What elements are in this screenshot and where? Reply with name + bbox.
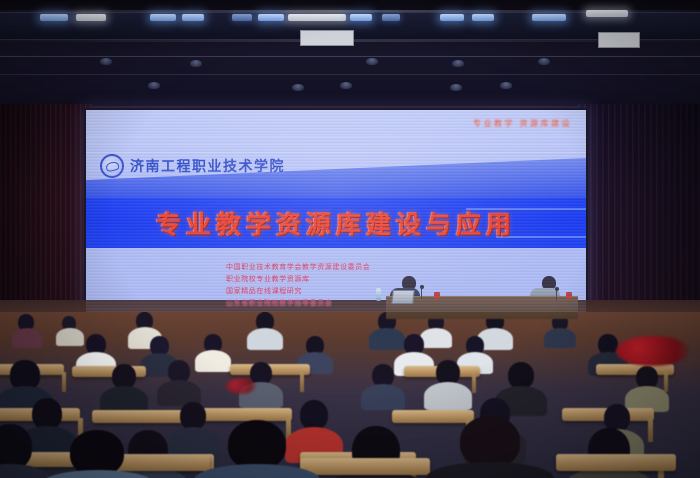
ceiling-lamp — [232, 14, 252, 21]
spotlight — [538, 58, 550, 65]
slide-subtitle-line: 国家精品在线课程研究 — [226, 286, 370, 296]
ceiling-lamp — [472, 14, 494, 21]
person-shoulders — [544, 328, 576, 348]
ceiling — [0, 0, 700, 118]
water-bottle — [376, 288, 381, 301]
college-name-text: 济南工程职业技术学院 — [130, 156, 285, 176]
person-shoulders — [56, 328, 84, 346]
person-shoulders — [195, 350, 231, 372]
person-shoulders — [424, 382, 472, 410]
red-cup — [434, 292, 440, 299]
slide-header-line — [86, 152, 586, 153]
ceiling-lamp — [532, 14, 566, 21]
spotlight — [100, 58, 112, 65]
person-head — [508, 362, 534, 389]
ceiling-lamp — [288, 14, 346, 21]
chair-back — [92, 410, 184, 423]
ceiling-projector-box — [300, 30, 354, 46]
spotlight — [450, 84, 462, 91]
red-cup — [566, 292, 572, 299]
microphone — [556, 290, 557, 301]
ceiling-rail — [0, 56, 700, 57]
ceiling-lamp — [350, 14, 372, 21]
slide-subtitle-line: 职业院校专业教学资源库 — [226, 274, 370, 284]
chair-back — [392, 410, 474, 423]
person-shoulders — [247, 328, 283, 350]
person-shoulders — [420, 328, 452, 348]
projection-screen: 专业教学 资源库建设 济南工程职业技术学院 专业教学资源库建设与应用 中国职业技… — [86, 110, 586, 312]
college-emblem-icon — [100, 154, 124, 178]
spotlight — [452, 60, 464, 67]
person-shoulders — [369, 328, 405, 350]
ceiling-lamp — [150, 14, 176, 21]
person-shoulders — [426, 462, 554, 478]
slide-header-line — [86, 136, 586, 137]
head-table — [386, 296, 578, 319]
spotlight — [148, 82, 160, 89]
ceiling-lamp — [586, 10, 628, 17]
audience-seating — [0, 312, 700, 478]
person-head — [180, 402, 206, 430]
spotlight — [340, 82, 352, 89]
chair-back — [556, 454, 676, 471]
chair-leg — [664, 372, 668, 392]
ceiling-lamp — [440, 14, 464, 21]
laptop — [391, 290, 414, 304]
slide-subtitle-block: 中国职业技术教育学会教学资源建设委员会 职业院校专业教学资源库 国家精品在线课程… — [226, 262, 370, 308]
chair-back — [196, 408, 292, 421]
floral-decoration — [616, 336, 690, 366]
spotlight — [190, 60, 202, 67]
spotlight — [500, 82, 512, 89]
ceiling-projector-box — [598, 32, 640, 48]
person-head — [300, 400, 328, 430]
chair-back — [596, 364, 674, 375]
auditorium-photo: 专业教学 资源库建设 济南工程职业技术学院 专业教学资源库建设与应用 中国职业技… — [0, 0, 700, 478]
slide-institution-logo: 济南工程职业技术学院 — [100, 154, 285, 178]
chair-leg — [472, 373, 476, 393]
floral-decoration — [226, 378, 256, 394]
ceiling-lamp — [258, 14, 284, 21]
slide-subtitle-line: 中国职业技术教育学会教学资源建设委员会 — [226, 262, 370, 272]
chair-leg — [62, 372, 66, 392]
slide-subtitle-line: 山东省职业院校教学指导委员会 — [226, 298, 370, 308]
ceiling-lamp — [76, 14, 106, 21]
person-shoulders — [361, 384, 405, 410]
slide-main-title: 专业教学资源库建设与应用 — [86, 200, 586, 246]
ceiling-lamp — [40, 14, 68, 21]
slide-top-right-note: 专业教学 资源库建设 — [473, 118, 572, 129]
ceiling-lamp — [382, 14, 400, 21]
slide-header-line — [86, 144, 586, 145]
ceiling-lamp — [182, 14, 204, 21]
microphone — [421, 288, 422, 299]
chair-leg — [648, 418, 653, 442]
chair-leg — [300, 372, 304, 392]
spotlight — [366, 58, 378, 65]
ceiling-rail — [0, 74, 700, 75]
person-head — [460, 416, 520, 468]
person-head — [228, 420, 286, 470]
chair-back — [300, 458, 430, 475]
spotlight — [292, 84, 304, 91]
person-shoulders — [12, 328, 42, 348]
